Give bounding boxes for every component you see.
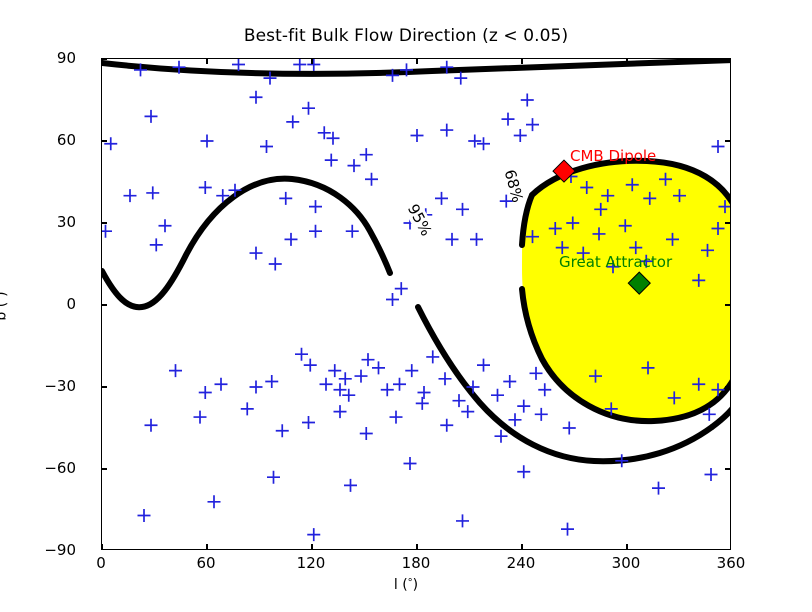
scatter-point <box>521 94 534 107</box>
scatter-point <box>362 353 375 366</box>
scatter-point <box>386 293 399 306</box>
scatter-point <box>446 233 459 246</box>
y-tick-label: −30 <box>44 377 76 395</box>
scatter-point <box>327 132 340 145</box>
scatter-point <box>146 186 159 199</box>
x-tick-label: 360 <box>717 554 746 572</box>
x-axis-label-text: l ( <box>394 577 408 593</box>
x-tick-mark <box>311 544 312 549</box>
scatter-point <box>526 118 539 131</box>
scatter-point <box>145 419 158 432</box>
scatter-point <box>293 59 306 71</box>
scatter-point <box>440 124 453 137</box>
scatter-point <box>390 411 403 424</box>
y-tick-mark <box>725 140 730 141</box>
scatter-point <box>418 386 431 399</box>
scatter-point <box>503 375 516 388</box>
x-tick-label: 60 <box>196 554 215 572</box>
scatter-point <box>159 219 172 232</box>
scatter-point <box>477 359 490 372</box>
scatter-point <box>360 148 373 161</box>
scatter-point <box>250 247 263 260</box>
scatter-point <box>538 383 551 396</box>
scatter-point <box>404 457 417 470</box>
scatter-point <box>454 72 467 85</box>
great-attractor-label: Great Attractor <box>559 253 672 271</box>
scatter-point <box>286 115 299 128</box>
x-tick-mark <box>626 59 627 64</box>
scatter-point <box>491 389 504 402</box>
scatter-point <box>344 479 357 492</box>
scatter-point <box>393 378 406 391</box>
scatter-point <box>267 471 280 484</box>
scatter-point <box>426 350 439 363</box>
scatter-point <box>302 102 315 115</box>
cmb-dipole-label: CMB Dipole <box>570 147 656 165</box>
x-tick-label: 240 <box>507 554 536 572</box>
scatter-point <box>307 59 320 71</box>
scatter-point <box>355 370 368 383</box>
y-tick-mark <box>725 386 730 387</box>
scatter-point <box>502 113 515 126</box>
scatter-point <box>342 389 355 402</box>
scatter-point <box>509 413 522 426</box>
scatter-point <box>348 159 361 172</box>
x-tick-mark <box>626 544 627 549</box>
y-tick-mark <box>102 222 107 223</box>
y-axis-label: b (°) <box>0 0 10 612</box>
x-axis-label: l (°) <box>0 577 812 593</box>
x-tick-mark <box>311 59 312 64</box>
scatter-point <box>269 258 282 271</box>
scatter-point <box>215 378 228 391</box>
x-tick-mark <box>206 59 207 64</box>
y-tick-label: −60 <box>44 459 76 477</box>
scatter-point <box>477 137 490 150</box>
scatter-point <box>241 402 254 415</box>
scatter-point <box>712 140 725 153</box>
scatter-point <box>208 495 221 508</box>
scatter-point <box>302 416 315 429</box>
x-tick-mark <box>101 544 102 549</box>
scatter-point <box>365 173 378 186</box>
y-tick-mark <box>102 468 107 469</box>
scatter-point <box>461 405 474 418</box>
scatter-point <box>145 110 158 123</box>
x-tick-mark <box>521 544 522 549</box>
scatter-point <box>309 200 322 213</box>
y-tick-mark <box>102 58 107 59</box>
scatter-point <box>530 367 543 380</box>
scatter-point <box>201 135 214 148</box>
contour-95-left <box>102 179 390 308</box>
scatter-point <box>169 364 182 377</box>
y-tick-mark <box>725 58 730 59</box>
scatter-point <box>150 238 163 251</box>
y-tick-label: 60 <box>57 131 76 149</box>
x-tick-mark <box>416 59 417 64</box>
scatter-point <box>334 405 347 418</box>
scatter-point <box>652 482 665 495</box>
scatter-point <box>320 378 333 391</box>
x-tick-label: 120 <box>297 554 326 572</box>
y-tick-label: 90 <box>57 49 76 67</box>
contour-95-right <box>712 409 731 427</box>
y-axis-degree-symbol: ° <box>0 297 5 302</box>
scatter-point <box>328 364 341 377</box>
scatter-point <box>439 372 452 385</box>
scatter-point <box>440 419 453 432</box>
scatter-point <box>199 181 212 194</box>
y-tick-label: 0 <box>66 295 76 313</box>
scatter-point <box>411 129 424 142</box>
scatter-point <box>307 528 320 541</box>
y-tick-label: 30 <box>57 213 76 231</box>
scatter-point <box>405 364 418 377</box>
scatter-point <box>517 400 530 413</box>
x-axis-label-close: ) <box>413 577 418 593</box>
scatter-point <box>250 91 263 104</box>
scatter-point <box>535 408 548 421</box>
scatter-point <box>615 454 628 467</box>
scatter-point <box>194 411 207 424</box>
plot-svg <box>102 59 731 550</box>
figure-canvas: Best-fit Bulk Flow Direction (z < 0.05) … <box>0 0 812 612</box>
x-tick-label: 300 <box>612 554 641 572</box>
y-tick-mark <box>725 468 730 469</box>
scatter-point <box>456 203 469 216</box>
scatter-point <box>517 465 530 478</box>
scatter-point <box>468 135 481 148</box>
scatter-point <box>456 514 469 527</box>
contour-68-fill <box>522 161 731 421</box>
scatter-point <box>250 381 263 394</box>
scatter-point <box>346 225 359 238</box>
x-tick-label: 180 <box>402 554 431 572</box>
scatter-point <box>276 424 289 437</box>
scatter-point <box>279 192 292 205</box>
scatter-point <box>372 361 385 374</box>
scatter-point <box>104 137 117 150</box>
scatter-point <box>138 509 151 522</box>
scatter-point <box>295 348 308 361</box>
scatter-point <box>416 397 429 410</box>
y-axis-label-text: b ( <box>0 302 10 321</box>
y-tick-mark <box>725 304 730 305</box>
scatter-point <box>514 129 527 142</box>
scatter-point <box>563 422 576 435</box>
y-tick-mark <box>725 222 730 223</box>
x-tick-mark <box>101 59 102 64</box>
y-tick-mark <box>102 386 107 387</box>
y-tick-mark <box>102 140 107 141</box>
scatter-point <box>309 225 322 238</box>
scatter-point <box>265 375 278 388</box>
scatter-point <box>470 233 483 246</box>
y-tick-label: −90 <box>44 541 76 559</box>
scatter-point <box>318 126 331 139</box>
x-tick-mark <box>416 544 417 549</box>
scatter-point <box>495 430 508 443</box>
scatter-point <box>260 140 273 153</box>
y-tick-mark <box>102 304 107 305</box>
scatter-point <box>285 233 298 246</box>
x-tick-mark <box>521 59 522 64</box>
scatter-point <box>124 189 137 202</box>
scatter-point <box>453 394 466 407</box>
scatter-point <box>561 523 574 536</box>
scatter-point <box>325 154 338 167</box>
scatter-point <box>705 468 718 481</box>
scatter-point <box>304 359 317 372</box>
scatter-point <box>360 427 373 440</box>
scatter-point <box>232 59 245 71</box>
scatter-point <box>435 192 448 205</box>
scatter-point <box>102 225 112 238</box>
x-tick-label: 0 <box>96 554 106 572</box>
scatter-point <box>381 383 394 396</box>
chart-title: Best-fit Bulk Flow Direction (z < 0.05) <box>0 26 812 46</box>
y-axis-label-close: ) <box>0 291 10 296</box>
plot-area: 68% 95% CMB Dipole Great Attractor <box>101 58 731 550</box>
x-tick-mark <box>206 544 207 549</box>
scatter-point <box>395 282 408 295</box>
scatter-point <box>199 386 212 399</box>
